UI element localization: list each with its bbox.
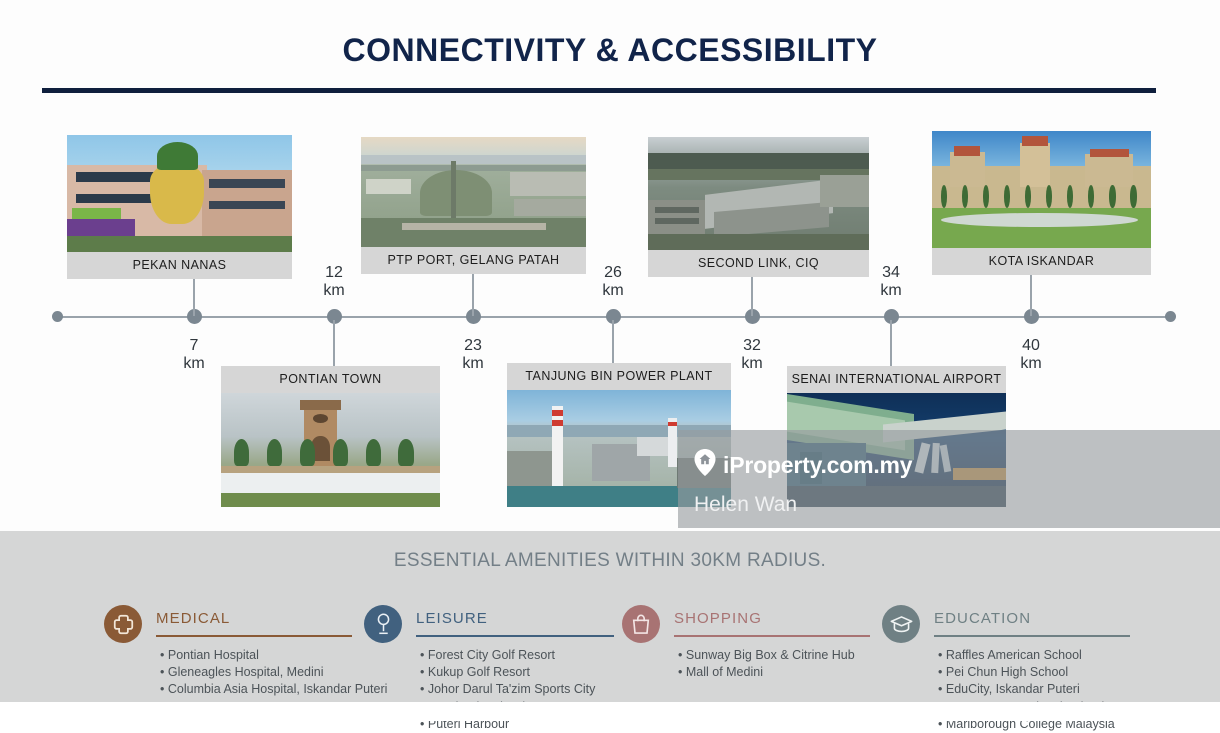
timeline-endpoint-dot	[52, 311, 63, 322]
photo-detail	[1130, 185, 1137, 208]
amenity-item: EduCity, Iskandar Puteri	[938, 681, 1115, 698]
destination-card[interactable]: SECOND LINK, CIQ	[648, 137, 869, 277]
amenities-panel: ESSENTIAL AMENITIES WITHIN 30KM RADIUS. …	[0, 531, 1220, 702]
photo-detail	[209, 201, 286, 209]
distance-value: 23	[438, 337, 508, 355]
amenity-item: Mall of Medini	[678, 664, 855, 681]
photo-detail	[361, 165, 586, 172]
distance-value: 12	[299, 264, 369, 282]
destination-card[interactable]: PEKAN NANAS	[67, 135, 292, 279]
destination-photo	[648, 137, 869, 250]
photo-detail	[420, 170, 492, 216]
photo-detail	[1109, 185, 1116, 208]
destination-caption: PEKAN NANAS	[67, 252, 292, 279]
photo-detail	[1085, 154, 1133, 187]
photo-detail	[313, 414, 328, 423]
timeline-distance: 12km	[299, 264, 369, 300]
photo-detail	[209, 179, 286, 187]
photo-detail	[950, 152, 985, 187]
shopping-bag-icon	[622, 605, 660, 643]
watermark-brand: iProperty.com.my	[723, 452, 912, 479]
amenities-title: ESSENTIAL AMENITIES WITHIN 30KM RADIUS.	[0, 550, 1220, 572]
destination-card[interactable]: PONTIAN TOWN	[221, 366, 440, 507]
amenity-item: Columbia Asia Hospital, Iskandar Puteri	[160, 681, 387, 698]
timeline-distance: 7km	[159, 337, 229, 373]
distance-value: 7	[159, 337, 229, 355]
photo-detail	[300, 400, 342, 410]
destination-photo	[932, 131, 1151, 248]
distance-unit: km	[159, 355, 229, 373]
photo-detail	[941, 213, 1138, 227]
photo-detail	[648, 200, 705, 234]
distance-unit: km	[856, 282, 926, 300]
graduation-cap-icon	[882, 605, 920, 643]
photo-detail	[157, 142, 198, 170]
amenity-item: Raffles American School	[938, 647, 1115, 664]
photo-detail	[655, 207, 699, 213]
photo-detail	[820, 175, 869, 207]
amenity-category-divider	[674, 635, 870, 637]
distance-unit: km	[299, 282, 369, 300]
photo-detail	[72, 208, 122, 220]
destination-card[interactable]: KOTA ISKANDAR	[932, 131, 1151, 275]
timeline-distance: 23km	[438, 337, 508, 373]
watermark-logo: iProperty.com.my	[694, 449, 912, 481]
amenity-category-title: LEISURE	[416, 610, 488, 627]
photo-detail	[954, 146, 980, 155]
amenity-category-title: SHOPPING	[674, 610, 762, 627]
amenity-item: Pei Chun High School	[938, 664, 1115, 681]
photo-detail	[1022, 136, 1048, 147]
photo-detail	[637, 437, 668, 456]
timeline-distance: 40km	[996, 337, 1066, 373]
photo-detail	[361, 155, 586, 165]
timeline-distance: 26km	[578, 264, 648, 300]
destination-photo	[361, 137, 586, 247]
photo-detail	[221, 493, 440, 507]
watermark-agent: Helen Wan	[694, 493, 797, 517]
amenity-item: Sunway Big Box & Citrine Hub	[678, 647, 855, 664]
distance-unit: km	[996, 355, 1066, 373]
distance-value: 32	[717, 337, 787, 355]
amenity-item-list: Sunway Big Box & Citrine HubMall of Medi…	[678, 647, 855, 681]
photo-detail	[552, 420, 563, 426]
photo-detail	[234, 439, 249, 466]
amenity-category-title: MEDICAL	[156, 610, 230, 627]
photo-detail	[366, 179, 411, 194]
photo-detail	[514, 199, 586, 217]
slide-canvas: CONNECTIVITY & ACCESSIBILITY 7km12km23km…	[0, 0, 1220, 721]
amenity-item: Gleneagles Hospital, Medini	[160, 664, 387, 681]
location-pin-house-icon	[694, 449, 716, 481]
destination-caption: KOTA ISKANDAR	[932, 248, 1151, 275]
photo-detail	[451, 161, 456, 225]
amenity-item: Pontian Hospital	[160, 647, 387, 664]
destination-photo	[221, 393, 440, 507]
timeline-connector	[472, 269, 474, 316]
photo-detail	[398, 439, 413, 466]
distance-unit: km	[438, 355, 508, 373]
photo-detail	[655, 218, 699, 224]
amenity-item-list: Pontian HospitalGleneagles Hospital, Med…	[160, 647, 387, 699]
photo-detail	[300, 439, 315, 466]
timeline-connector	[1030, 269, 1032, 316]
timeline-endpoint-dot	[1165, 311, 1176, 322]
distance-unit: km	[578, 282, 648, 300]
page-title: CONNECTIVITY & ACCESSIBILITY	[0, 32, 1220, 69]
destination-caption: TANJUNG BIN POWER PLANT	[507, 363, 731, 390]
photo-detail	[1020, 143, 1051, 187]
photo-detail	[1090, 149, 1129, 157]
photo-detail	[668, 422, 677, 427]
photo-detail	[366, 439, 381, 466]
photo-detail	[552, 406, 563, 490]
photo-detail	[333, 439, 348, 466]
photo-detail	[67, 236, 292, 252]
destination-caption: PTP PORT, GELANG PATAH	[361, 247, 586, 274]
destination-card[interactable]: PTP PORT, GELANG PATAH	[361, 137, 586, 274]
amenity-item: Forest City Golf Resort	[420, 647, 595, 664]
amenity-item: Johor Darul Ta'zim Sports City	[420, 681, 595, 698]
photo-detail	[510, 172, 587, 196]
medical-cross-icon	[104, 605, 142, 643]
photo-detail	[150, 163, 204, 224]
amenity-category-divider	[934, 635, 1130, 637]
destination-caption: SENAI INTERNATIONAL AIRPORT	[787, 366, 1006, 393]
bottom-strip	[0, 702, 1220, 721]
photo-detail	[267, 439, 282, 466]
distance-value: 40	[996, 337, 1066, 355]
title-divider	[42, 88, 1156, 93]
destination-caption: PONTIAN TOWN	[221, 366, 440, 393]
amenity-category-divider	[416, 635, 614, 637]
amenity-item: Kukup Golf Resort	[420, 664, 595, 681]
photo-detail	[507, 451, 552, 486]
amenity-category-title: EDUCATION	[934, 610, 1031, 627]
destination-caption: SECOND LINK, CIQ	[648, 250, 869, 277]
distance-value: 26	[578, 264, 648, 282]
destination-photo	[67, 135, 292, 252]
photo-detail	[552, 410, 563, 416]
amenity-category-divider	[156, 635, 352, 637]
photo-detail	[402, 223, 546, 231]
golf-tee-icon	[364, 605, 402, 643]
photo-detail	[648, 234, 869, 250]
